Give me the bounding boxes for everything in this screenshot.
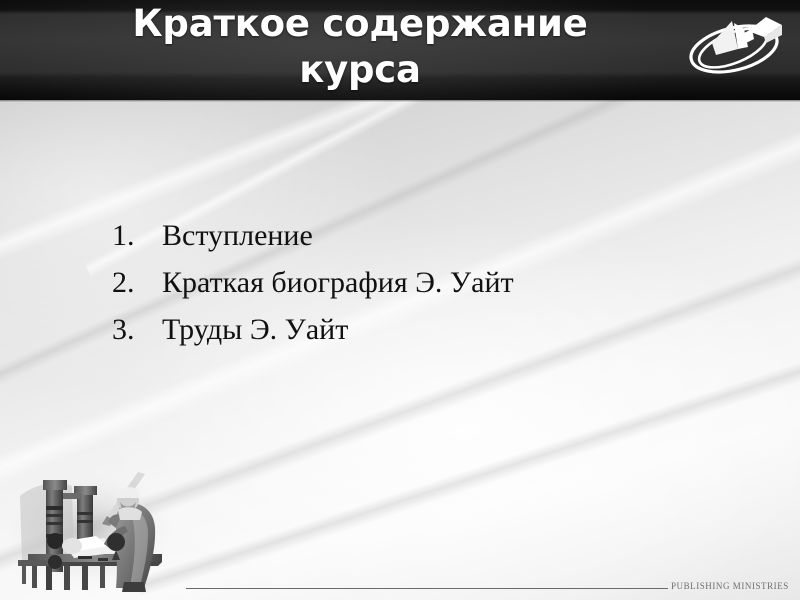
list-item-number: 3.: [112, 306, 162, 353]
agenda-list: 1. Вступление 2. Краткая биография Э. Уа…: [112, 212, 752, 353]
book-orbit-icon: [686, 3, 790, 85]
list-item: 1. Вступление: [112, 212, 752, 259]
footer-label: PUBLISHING MINISTRIES: [671, 581, 789, 591]
list-item-number: 1.: [112, 212, 162, 259]
list-item-label: Труды Э. Уайт: [162, 306, 752, 353]
presentation-slide: Краткое содержание курса 1. Вступление 2…: [0, 0, 800, 600]
page-title: Краткое содержание курса: [40, 1, 680, 93]
footer-divider: [186, 588, 668, 589]
header-underline: [0, 100, 800, 102]
list-item-label: Краткая биография Э. Уайт: [162, 259, 752, 306]
list-item-number: 2.: [112, 259, 162, 306]
list-item: 2. Краткая биография Э. Уайт: [112, 259, 752, 306]
printing-press-illustration: [12, 466, 190, 592]
list-item: 3. Труды Э. Уайт: [112, 306, 752, 353]
list-item-label: Вступление: [162, 212, 752, 259]
